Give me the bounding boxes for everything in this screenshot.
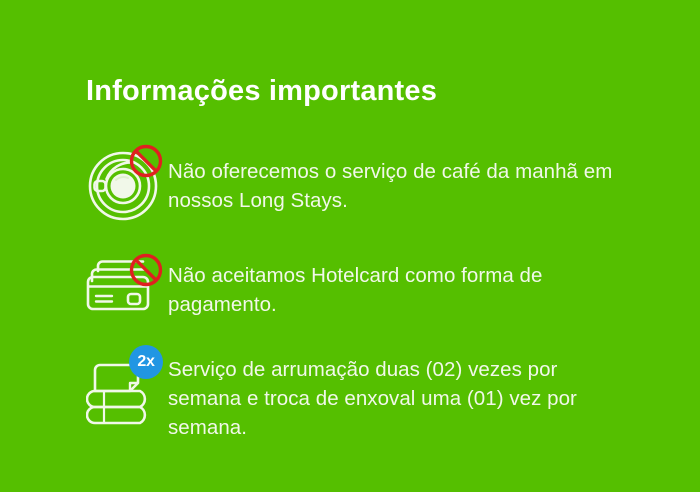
icon-cell bbox=[86, 249, 168, 313]
no-prohibition-icon bbox=[127, 142, 165, 180]
list-item: Não oferecemos o serviço de café da manh… bbox=[86, 145, 626, 223]
frequency-badge-label: 2x bbox=[137, 354, 154, 370]
page-title: Informações importantes bbox=[86, 72, 437, 110]
list-item-text: Não aceitamos Hotelcard como forma de pa… bbox=[168, 249, 626, 319]
icon-cell bbox=[86, 145, 168, 223]
icon-cell: 2x bbox=[86, 349, 168, 427]
information-slide: Informações importantes Não of bbox=[0, 0, 700, 492]
frequency-badge: 2x bbox=[129, 345, 163, 379]
list-item: 2x Serviço de arrumação duas (02) vezes … bbox=[86, 349, 626, 442]
no-prohibition-icon bbox=[127, 251, 165, 289]
information-list: Não oferecemos o serviço de café da manh… bbox=[86, 145, 626, 442]
list-item: Não aceitamos Hotelcard como forma de pa… bbox=[86, 249, 626, 319]
list-item-text: Serviço de arrumação duas (02) vezes por… bbox=[168, 349, 626, 442]
list-item-text: Não oferecemos o serviço de café da manh… bbox=[168, 145, 626, 215]
